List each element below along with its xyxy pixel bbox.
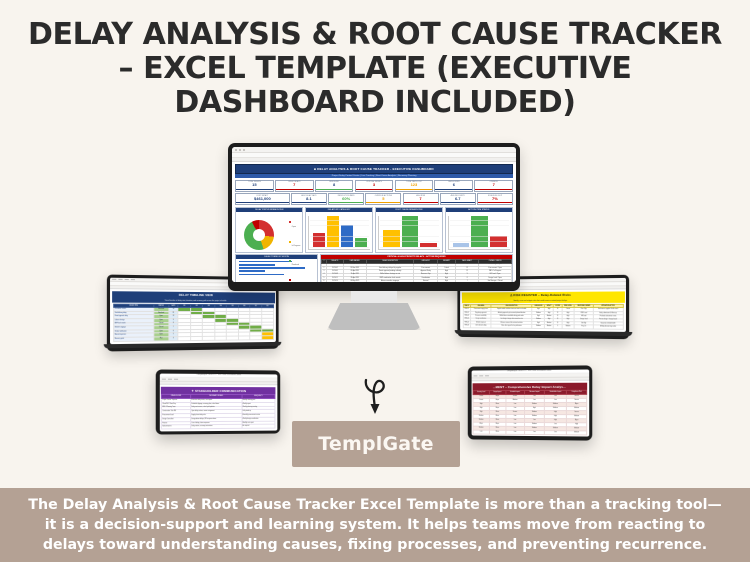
device-mockup-stage: DELAY TIMELINE VIEW Visual timeline of d… [0,138,750,488]
legend-item: Critical [289,271,301,282]
megaphone-icon: ✦ [191,388,194,392]
kpi-value: 123 [396,183,433,188]
kpi-accent-bar [475,189,512,190]
legend-item: In Progress [289,233,301,251]
kpi-value: 6 [435,183,472,188]
dashboard-header: ■ DELAY ANALYSIS & ROOT CAUSE TRACKER - … [235,164,513,174]
table-cell: Medium [532,325,545,328]
table-row: LowMinorLowLowLowMedium [473,430,587,435]
kpi-card: OWNERS7 [474,180,513,192]
kpi-card: TOTAL DELAYS15 [235,180,274,192]
gantt-cell [178,337,190,341]
charts-row: DELAY STATUS BREAKDOWN OpenIn ProgressRe… [235,207,513,253]
risk-register-table-wrap[interactable]: RISK IDRISK AREARISK DESCRIPTIONLIKELIHO… [461,303,624,331]
kpi-accent-bar [396,189,433,190]
chart-body-bars [306,212,372,252]
kpi-value: 8 [316,183,353,188]
table-cell: Subcontractors [161,425,190,429]
trend-bar [239,261,292,263]
table-cell: Medium [567,431,587,435]
kpi-accent-bar [441,202,475,203]
dashboard-header-text: DELAY ANALYSIS & ROOT CAUSE TRACKER - EX… [317,167,434,171]
table-cell: Low [525,430,545,434]
tablet-left-body: Delay Analysis Tracker v1.0 – Root Cause… [156,369,280,434]
table-cell: Adverse weather stoppage [366,280,414,282]
trend-bars [236,259,317,277]
stakeholder-table-wrap[interactable]: STAKEHOLDERINFORMATION NEEDFREQUENCY Pro… [161,394,276,429]
kpi-accent-bar [236,202,289,203]
table-cell: Proj. Dir [574,325,593,329]
table-cell: 09-May-2025 [343,280,366,282]
monitor-screen: ■ DELAY ANALYSIS & ROOT CAUSE TRACKER - … [232,147,516,282]
lower-row: DELAY TREND BY MONTH CRITICAL & HIGH PRI… [235,254,513,282]
table-cell: Low [473,430,489,434]
kpi-accent-bar [316,189,353,190]
dashboard-sheet: ■ DELAY ANALYSIS & ROOT CAUSE TRACKER - … [232,162,516,282]
kpi-value: 5 [366,197,400,202]
trend-bar [239,274,284,276]
brand-name: TemplGate [318,433,433,455]
risk-body: RSK-01Procurement supply chainSupplier u… [463,308,623,329]
kpi-accent-bar [236,189,273,190]
gantt-cell [227,336,239,340]
table-cell: 7 [456,280,479,282]
chart-body-bars [376,212,442,252]
laptop-right-base [455,330,633,336]
brand-logo-box: TemplGate [292,421,460,467]
chart-root-cause-breakdown[interactable]: ROOT CAUSE BREAKDOWN [375,207,443,253]
gantt-cell [203,336,215,340]
dashboard-header-icon: ■ [314,167,316,171]
table-cell: Medium [545,325,554,328]
kpi-card: RESOLUTION RATE60% [328,193,364,205]
chart-gridlines [380,215,439,248]
gantt-row-label: Recovery sprint [113,337,154,341]
gantt-row-days: 4 [168,337,178,341]
table-cell: 9 [553,325,561,328]
tablet-right-body: Delay Analysis Tracker v1.0 – Root Cause… [468,365,592,440]
table-cell: Delay notices, recovery instructions [190,425,241,429]
kpi-accent-bar [478,202,512,203]
desktop-monitor[interactable]: ■ DELAY ANALYSIS & ROOT CAUSE TRACKER - … [228,143,520,303]
kpi-accent-bar [292,202,326,203]
kpi-value: 60% [329,197,363,202]
table-cell: High [437,280,455,282]
table-cell: DLY-014 [327,280,344,282]
gantt-row: Recovery sprintPlan4 [113,336,273,341]
kpi-row-primary: TOTAL DELAYS15OPEN DELAYS7RESOLVED8CRITI… [235,180,513,192]
kpi-value: 6.7 [441,197,475,202]
dashboard-subheader: Project Delay Control Center | Live Trac… [235,174,513,178]
redo-icon[interactable] [243,149,245,151]
gantt-cell [262,336,273,340]
kpi-accent-bar [276,189,313,190]
impact-table-wrap[interactable]: Severity LevelScope ImpactSchedule Impac… [473,390,588,435]
gantt-cell [250,336,262,340]
tablet-left-screen: Delay Analysis Tracker v1.0 – Root Cause… [159,373,277,431]
kpi-row-secondary: COST IMPACT$461,000AVG DELAY DAYS8.1RESO… [235,193,513,205]
critical-delays-table-panel[interactable]: CRITICAL & HIGH PRIORITY DELAYS – ACTION… [320,254,513,282]
gantt-row-status: Plan [154,337,169,341]
kpi-value: 3 [356,183,393,188]
chart-body-bars [446,212,512,252]
kpi-card: TOTAL DAYS LOST123 [395,180,434,192]
banner-text: The Delay Analysis & Root Cause Tracker … [26,495,724,555]
gantt-cell [191,336,203,340]
table-cell: External [414,280,438,282]
gantt-table: DELAY ITEM STATUS DAYS W1 W2 W3 W4 W5 W6… [113,304,274,342]
kpi-value: 7 [276,183,313,188]
table-cell: Slow client sign-off on key milestones [491,324,532,328]
kpi-value: 7 [404,197,438,202]
risk-register-table: RISK IDRISK AREARISK DESCRIPTIONLIKELIHO… [462,304,623,330]
page-title: DELAY ANALYSIS & ROOT CAUSE TRACKER – EX… [22,18,728,120]
table-row: 6DLY-01409-May-2025Adverse weather stopp… [321,280,511,282]
undo-icon[interactable] [239,149,241,151]
chart-delay-status-breakdown[interactable]: DELAY STATUS BREAKDOWN OpenIn ProgressRe… [235,207,303,253]
monitor-stand-base [327,303,421,330]
curly-down-arrow-icon [352,370,398,416]
table-cell: Minor [489,430,505,434]
kpi-value: 7 [475,183,512,188]
chart-gridlines [450,215,509,248]
tablet-right-doc-subtitle: Delay Analysis Tracker v1.0 – Root Cause… [471,369,589,375]
chart-gridlines [310,215,369,248]
kpi-accent-bar [435,189,472,190]
kpi-card: AVG RECOVERY6.7 [440,193,476,205]
table-cell: RSK-06 [463,324,471,327]
table-cell: Site Manager / Closed [479,280,512,282]
donut-legend: OpenIn ProgressResolvedCritical [289,214,301,282]
kpi-accent-bar [404,202,438,203]
bottom-description-banner: The Delay Analysis & Root Cause Tracker … [0,488,750,562]
critical-delays-body: 1DLY-00112-Mar-2025Foundation rework req… [321,263,511,282]
gantt-cell [215,336,227,340]
table-cell: Low [544,431,566,435]
kpi-card: SCHEDULE SLIP7% [477,193,513,205]
impact-body: CriticalMajorSevereLowLowSevereCriticalM… [473,394,587,435]
table-cell: Client decision delay [471,324,492,327]
legend-item: Resolved [289,252,301,270]
table-cell: Low [505,430,524,434]
page-title-block: DELAY ANALYSIS & ROOT CAUSE TRACKER – EX… [0,18,750,120]
kpi-card: RESOLVED8 [315,180,354,192]
kpi-value: $461,000 [236,197,289,202]
kpi-card: HIGH RISK7 [403,193,439,205]
stakeholder-body: Project Owner / SponsorExecutive delay s… [161,398,275,429]
trend-bar [239,270,265,272]
tablet-right-screen: Delay Analysis Tracker v1.0 – Root Cause… [471,369,589,437]
chart-action-item-status[interactable]: ACTION ITEM STATUS [445,207,513,253]
panel-delay-trend[interactable]: DELAY TREND BY MONTH [235,254,318,282]
legend-item: Open [289,214,301,232]
table-cell: Weekly decision log review [593,325,622,329]
trend-bar [239,264,275,266]
kpi-card: OVERDUE ACTIONS5 [365,193,401,205]
kpi-card: COST IMPACT$461,000 [235,193,290,205]
critical-delays-table: #DELAY IDDATE RAISEDDELAY DESCRIPTIONCAT… [321,259,512,282]
kpi-accent-bar [356,189,393,190]
impact-table: Severity LevelScope ImpactSchedule Impac… [473,390,588,435]
table-cell: As required [242,425,275,429]
kpi-accent-bar [366,202,400,203]
kpi-card: OPEN DELAYS7 [275,180,314,192]
kpi-card: CATEGORIES6 [434,180,473,192]
tablet-right-delay-impact-analysis[interactable]: Delay Analysis Tracker v1.0 – Root Cause… [468,365,592,440]
stakeholder-table: STAKEHOLDERINFORMATION NEEDFREQUENCY Pro… [161,394,276,429]
tablet-left-stakeholder-communication[interactable]: Delay Analysis Tracker v1.0 – Root Cause… [156,369,280,434]
monitor-bezel: ■ DELAY ANALYSIS & ROOT CAUSE TRACKER - … [228,143,520,291]
kpi-value: 15 [236,183,273,188]
chart-delays-by-category[interactable]: DELAYS BY CATEGORY [305,207,373,253]
gantt-body: Foundation reworkResolved14Steel deliver… [113,308,273,342]
kpi-value: 8.1 [292,197,326,202]
stakeholder-title-text: STAKEHOLDER COMMUNICATION [195,388,246,392]
kpi-card: CRITICAL DELAYS3 [355,180,394,192]
tablet-left-doc-subtitle: Delay Analysis Tracker v1.0 – Root Cause… [159,373,277,379]
donut-chart [244,220,274,250]
kpi-value: 7% [478,197,512,202]
gantt-cell [238,336,250,340]
table-cell: Medium [562,325,574,329]
save-icon[interactable] [235,149,237,151]
gantt-chart[interactable]: DELAY ITEM STATUS DAYS W1 W2 W3 W4 W5 W6… [112,303,275,343]
table-row: SubcontractorsDelay notices, recovery in… [161,425,275,430]
table-row: RSK-06Client decision delaySlow client s… [463,324,623,329]
chart-body-donut: OpenIn ProgressResolvedCritical [236,212,302,252]
kpi-accent-bar [329,202,363,203]
kpi-card: AVG DELAY DAYS8.1 [291,193,327,205]
